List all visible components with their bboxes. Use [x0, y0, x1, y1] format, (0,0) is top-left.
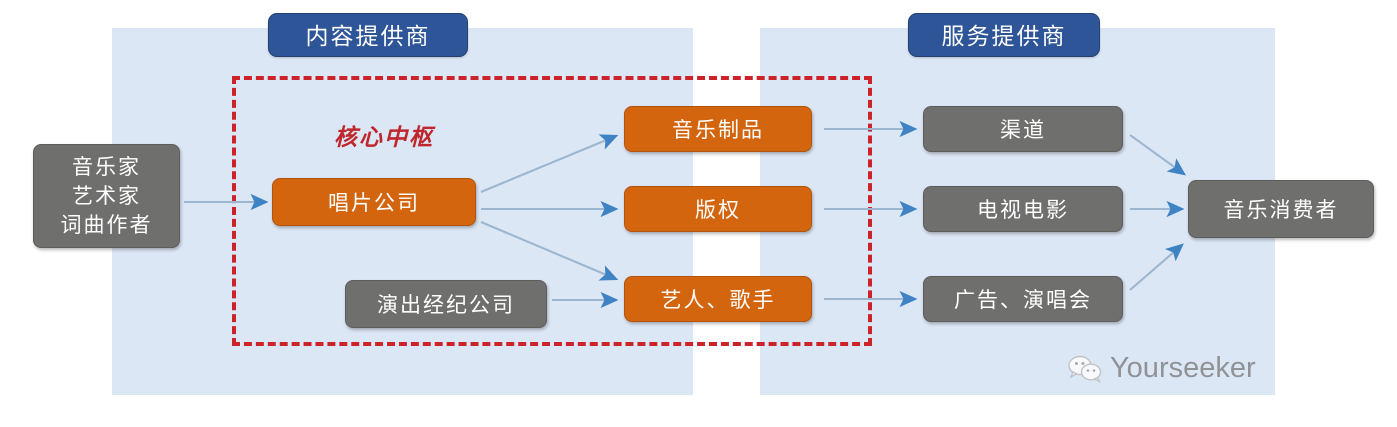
wechat-icon [1068, 355, 1102, 383]
core-hub-label: 核心中枢 [334, 118, 434, 152]
node-record-company: 唱片公司 [272, 178, 476, 226]
node-record-company-label: 唱片公司 [328, 187, 420, 217]
node-channels: 渠道 [923, 106, 1123, 152]
node-artists-singers: 艺人、歌手 [624, 276, 812, 322]
watermark-text: Yourseeker [1110, 352, 1256, 385]
node-ads-concerts: 广告、演唱会 [923, 276, 1123, 322]
node-tv-film-label: 电视电影 [977, 194, 1069, 224]
section-header-service-provider: 服务提供商 [908, 13, 1100, 57]
node-performance-agency: 演出经纪公司 [345, 280, 547, 328]
node-tv-film: 电视电影 [923, 186, 1123, 232]
node-creators: 音乐家 艺术家 词曲作者 [33, 144, 180, 248]
node-ads-concerts-label: 广告、演唱会 [954, 284, 1092, 314]
node-music-products-label: 音乐制品 [672, 114, 764, 144]
node-music-consumers: 音乐消费者 [1188, 180, 1374, 238]
watermark: Yourseeker [1068, 352, 1256, 385]
node-copyright: 版权 [624, 186, 812, 232]
node-creators-label: 音乐家 艺术家 词曲作者 [61, 153, 153, 240]
node-music-consumers-label: 音乐消费者 [1224, 194, 1339, 224]
node-copyright-label: 版权 [695, 194, 741, 224]
diagram-canvas: 内容提供商 服务提供商 核心中枢 音乐家 艺术家 词曲作者 唱片公司 演出经纪公… [0, 0, 1397, 427]
node-artists-singers-label: 艺人、歌手 [661, 284, 776, 314]
node-channels-label: 渠道 [1000, 114, 1046, 144]
node-music-products: 音乐制品 [624, 106, 812, 152]
node-performance-agency-label: 演出经纪公司 [377, 289, 515, 319]
section-header-content-provider: 内容提供商 [268, 13, 468, 57]
